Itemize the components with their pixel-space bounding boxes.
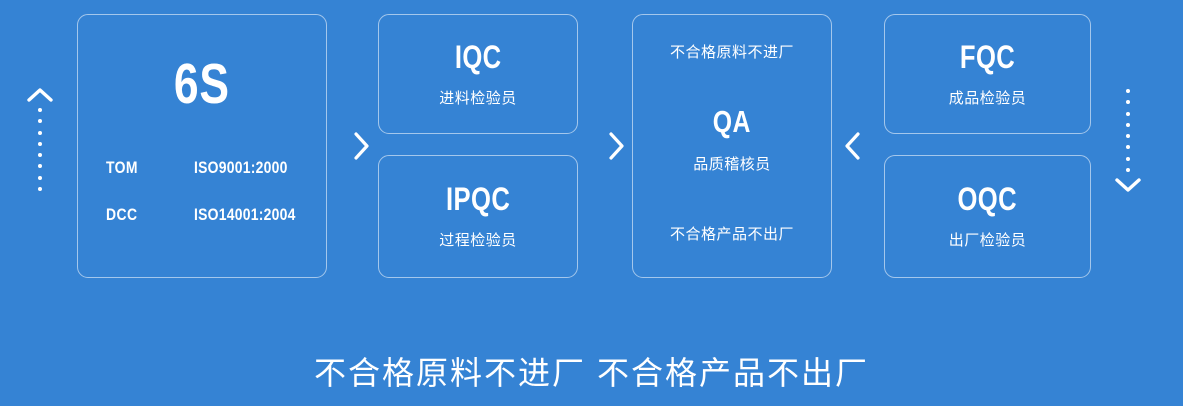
- card-oqc[interactable]: OQC 出厂检验员: [884, 155, 1091, 278]
- arrow-up-dotted-icon: [23, 86, 57, 196]
- card-6s[interactable]: 6S TOM ISO9001:2000 DCC ISO14001:2004: [77, 14, 327, 278]
- card-fqc-code: FQC: [960, 41, 1015, 73]
- card-ipqc-code: IPQC: [446, 183, 510, 215]
- chevron-right-icon: [603, 126, 629, 166]
- card-ipqc-role: 过程检验员: [439, 229, 517, 250]
- card-qa-body: QA 品质稽核员: [693, 106, 771, 174]
- card-6s-title: 6S: [174, 56, 230, 113]
- card-qa-note-top: 不合格原料不进厂: [670, 41, 794, 62]
- card-qa-code: QA: [713, 106, 751, 137]
- spec-key: TOM: [106, 158, 178, 178]
- card-fqc[interactable]: FQC 成品检验员: [884, 14, 1091, 134]
- spec-key: DCC: [106, 205, 178, 225]
- card-oqc-role: 出厂检验员: [949, 229, 1027, 250]
- card-iqc-role: 进料检验员: [439, 87, 517, 108]
- card-ipqc[interactable]: IPQC 过程检验员: [378, 155, 578, 278]
- card-fqc-role: 成品检验员: [949, 87, 1027, 108]
- card-qa[interactable]: 不合格原料不进厂 QA 品质稽核员 不合格产品不出厂: [632, 14, 832, 278]
- card-oqc-code: OQC: [958, 183, 1018, 215]
- card-iqc-code: IQC: [455, 41, 502, 73]
- spec-value: ISO9001:2000: [194, 158, 288, 178]
- specs-table: TOM ISO9001:2000 DCC ISO14001:2004: [78, 158, 326, 225]
- spec-row: DCC ISO14001:2004: [78, 205, 326, 225]
- spec-row: TOM ISO9001:2000: [78, 158, 326, 178]
- chevron-left-icon: [840, 126, 866, 166]
- chevron-up-icon: [26, 86, 54, 103]
- card-qa-role: 品质稽核员: [693, 153, 771, 174]
- dotted-line: [1126, 84, 1131, 177]
- card-iqc[interactable]: IQC 进料检验员: [378, 14, 578, 134]
- spec-value: ISO14001:2004: [194, 205, 296, 225]
- chevron-right-icon: [348, 126, 374, 166]
- chevron-down-icon: [1114, 177, 1142, 194]
- qc-flow-diagram: 6S TOM ISO9001:2000 DCC ISO14001:2004 IQ…: [0, 0, 1183, 406]
- dotted-line: [38, 103, 43, 196]
- card-qa-note-bottom: 不合格产品不出厂: [670, 223, 794, 244]
- arrow-down-dotted-icon: [1111, 84, 1145, 194]
- footer-slogan: 不合格原料不进厂 不合格产品不出厂: [0, 348, 1183, 394]
